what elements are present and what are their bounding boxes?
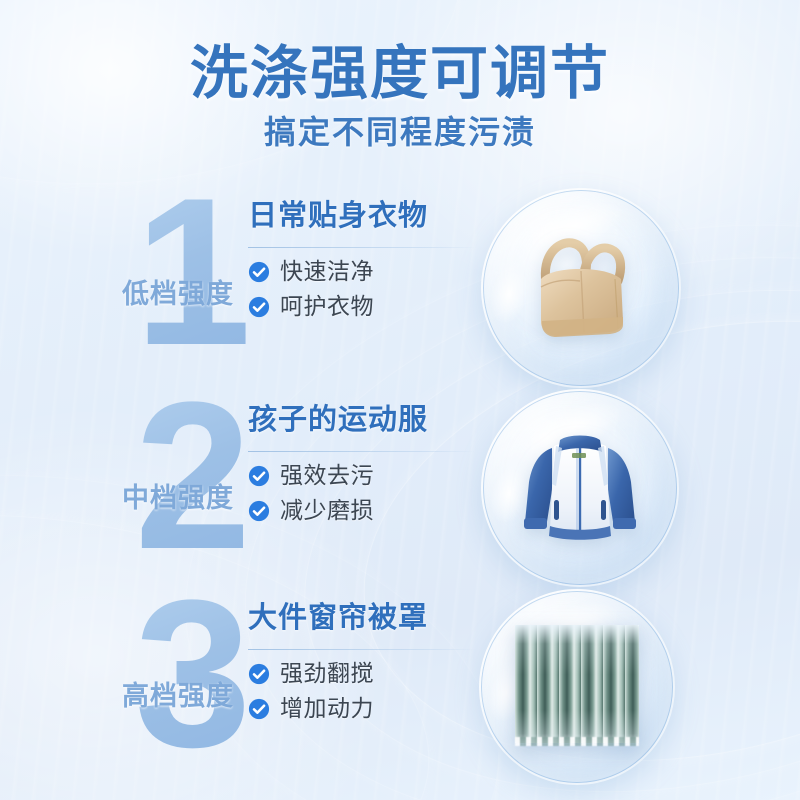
list-item: 强劲翻搅 [248,662,498,685]
feature-text-block-3: 大件窗帘被罩 强劲翻搅 增 [248,602,498,732]
list-item: 快速洁净 [248,260,498,283]
feature-bullets-2: 强效去污 减少磨损 [248,464,498,522]
check-circle-icon [248,296,270,318]
divider [248,247,476,248]
page-title: 洗涤强度可调节 [0,44,800,105]
feature-title-1: 日常贴身衣物 [248,200,498,233]
feature-grade-label-2: 中档强度 [88,476,268,515]
bullet-label: 增加动力 [280,697,374,720]
divider [248,451,476,452]
check-circle-icon [248,663,270,685]
feature-row-1: 1 低档强度 日常贴身衣物 快速洁净 [0,186,800,386]
list-item: 减少磨损 [248,499,498,522]
feature-bullets-1: 快速洁净 呵护衣物 [248,260,498,318]
promo-poster: 洗涤强度可调节 搞定不同程度污渍 [0,0,800,800]
bullet-label: 呵护衣物 [280,295,374,318]
check-circle-icon [248,261,270,283]
bullet-label: 强劲翻搅 [280,662,374,685]
page-subtitle: 搞定不同程度污渍 [0,115,800,150]
bullet-label: 减少磨损 [280,499,374,522]
check-circle-icon [248,465,270,487]
list-item: 强效去污 [248,464,498,487]
poster-header: 洗涤强度可调节 搞定不同程度污渍 [0,44,800,150]
feature-title-3: 大件窗帘被罩 [248,602,498,635]
feature-bullets-3: 强劲翻搅 增加动力 [248,662,498,720]
feature-row-3: 3 高档强度 大件窗帘被罩 强劲翻搅 [0,588,800,788]
check-circle-icon [248,698,270,720]
list-item: 呵护衣物 [248,295,498,318]
bullet-label: 强效去污 [280,464,374,487]
feature-text-block-2: 孩子的运动服 强效去污 减 [248,404,498,534]
feature-title-2: 孩子的运动服 [248,404,498,437]
feature-grade-label-1: 低档强度 [88,272,268,311]
feature-row-2: 2 中档强度 孩子的运动服 强效去污 [0,390,800,590]
feature-text-block-1: 日常贴身衣物 快速洁净 呵 [248,200,498,330]
divider [248,649,476,650]
bullet-label: 快速洁净 [280,260,374,283]
list-item: 增加动力 [248,697,498,720]
check-circle-icon [248,500,270,522]
feature-grade-label-3: 高档强度 [88,674,268,713]
